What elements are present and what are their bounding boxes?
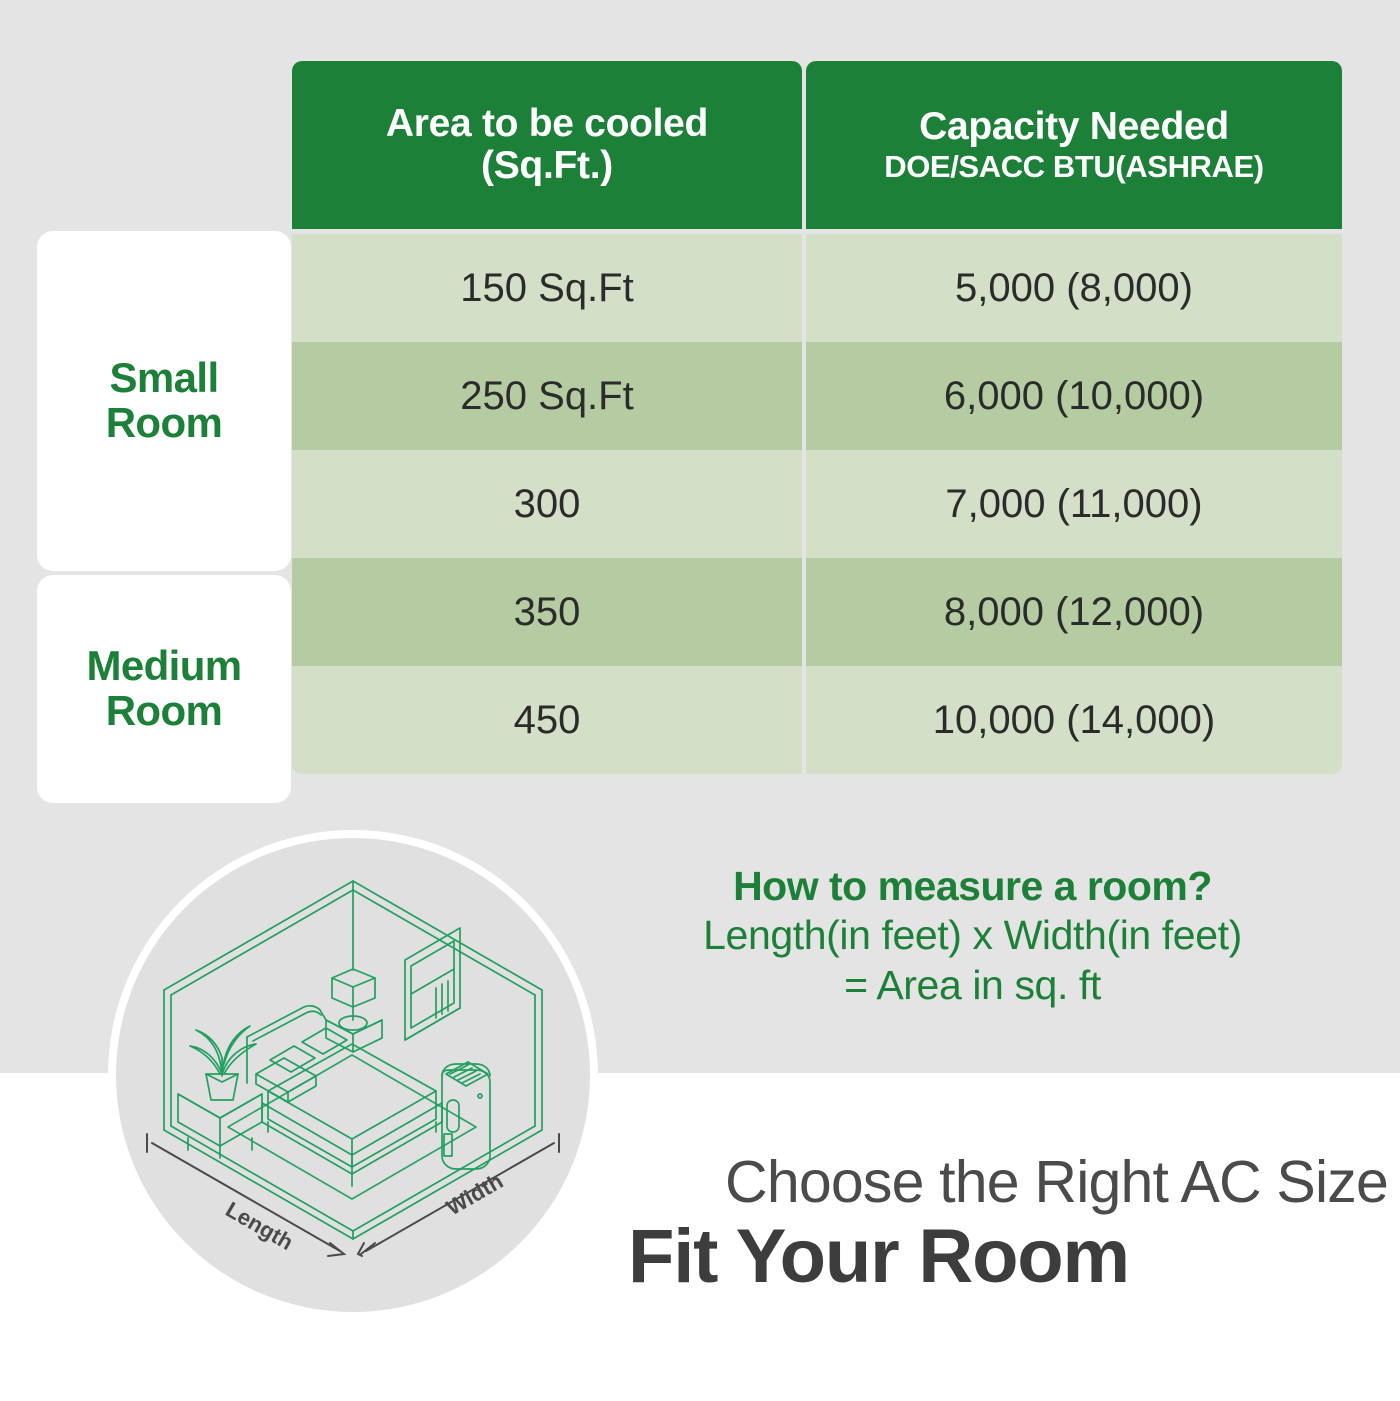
table-header-area-label: Area to be cooled (Sq.Ft.) <box>386 103 708 187</box>
table-row: 450 10,000 (14,000) <box>292 666 1342 774</box>
table-row: 350 8,000 (12,000) <box>292 558 1342 666</box>
how-to-measure-block: How to measure a room? Length(in feet) x… <box>600 864 1345 1010</box>
capacity-table: Area to be cooled (Sq.Ft.) Capacity Need… <box>292 61 1342 774</box>
headline-title: Fit Your Room <box>628 1217 1388 1297</box>
table-header-capacity: Capacity Needed DOE/SACC BTU(ASHRAE) <box>806 61 1342 229</box>
how-to-measure-formula: Length(in feet) x Width(in feet) <box>600 910 1345 960</box>
cell-capacity: 6,000 (10,000) <box>806 342 1342 450</box>
cell-capacity: 7,000 (11,000) <box>806 450 1342 558</box>
table-row: 300 7,000 (11,000) <box>292 450 1342 558</box>
cell-area: 150 Sq.Ft <box>292 234 802 342</box>
table-header-capacity-label: Capacity Needed <box>919 106 1229 148</box>
cell-capacity: 8,000 (12,000) <box>806 558 1342 666</box>
headline-subtitle: Choose the Right AC Size <box>628 1152 1388 1213</box>
how-to-measure-title: How to measure a room? <box>600 864 1345 910</box>
table-header-area: Area to be cooled (Sq.Ft.) <box>292 61 802 229</box>
table-header-capacity-sublabel: DOE/SACC BTU(ASHRAE) <box>884 150 1264 184</box>
illustration-circle: Length Width <box>116 838 590 1312</box>
illustration-circle-ring: Length Width <box>108 830 598 1320</box>
headline-block: Choose the Right AC Size Fit Your Room <box>628 1152 1388 1297</box>
room-type-label: Medium Room <box>86 644 241 733</box>
cell-area: 300 <box>292 450 802 558</box>
cell-area: 450 <box>292 666 802 774</box>
how-to-measure-result: = Area in sq. ft <box>600 960 1345 1010</box>
table-row: 250 Sq.Ft 6,000 (10,000) <box>292 342 1342 450</box>
cell-area: 350 <box>292 558 802 666</box>
table-header-row: Area to be cooled (Sq.Ft.) Capacity Need… <box>292 61 1342 229</box>
room-type-card-small: Small Room <box>37 231 291 571</box>
table-body: 150 Sq.Ft 5,000 (8,000) 250 Sq.Ft 6,000 … <box>292 234 1342 774</box>
cell-capacity: 10,000 (14,000) <box>806 666 1342 774</box>
room-illustration-icon: Length Width <box>116 838 590 1312</box>
room-type-card-medium: Medium Room <box>37 575 291 803</box>
room-type-label: Small Room <box>106 356 223 445</box>
cell-capacity: 5,000 (8,000) <box>806 234 1342 342</box>
cell-area: 250 Sq.Ft <box>292 342 802 450</box>
table-row: 150 Sq.Ft 5,000 (8,000) <box>292 234 1342 342</box>
